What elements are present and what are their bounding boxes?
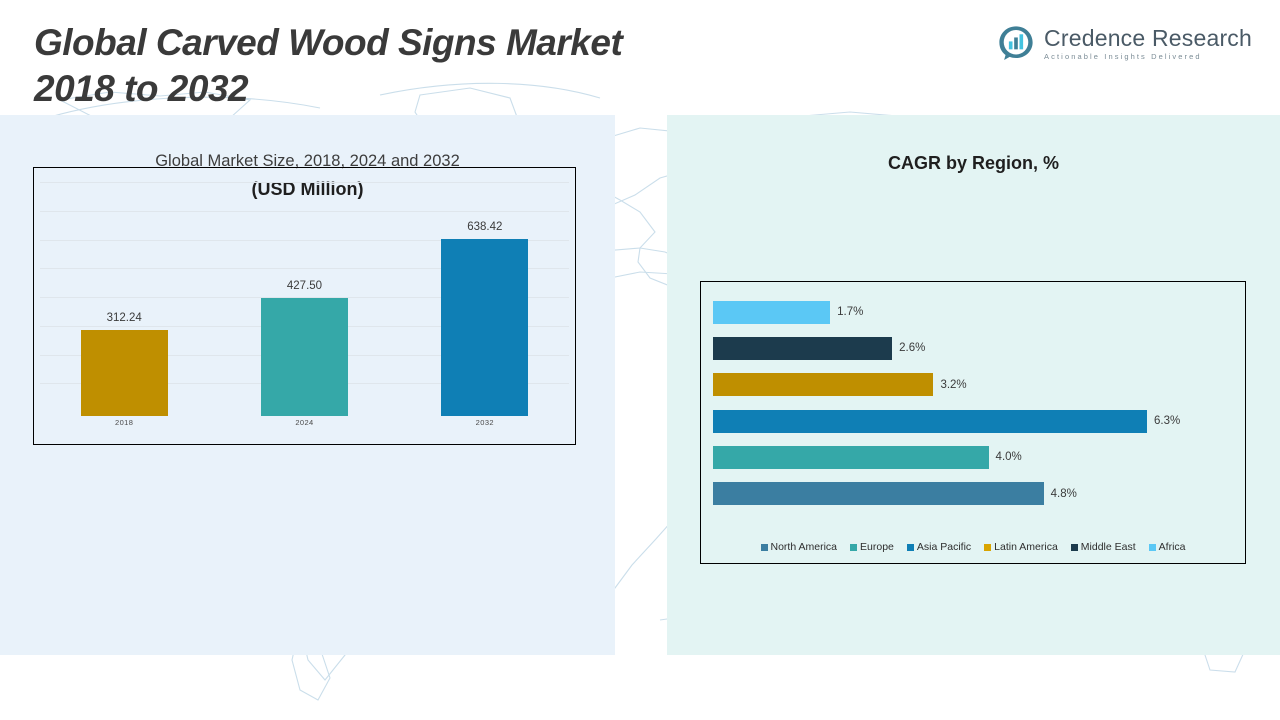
hbar-value-label: 3.2%	[940, 379, 966, 391]
legend-swatch	[761, 544, 768, 551]
page-title: Global Carved Wood Signs Market 2018 to …	[34, 20, 794, 112]
hbar-row[interactable]: 1.7%	[713, 294, 1233, 330]
hbar[interactable]	[713, 446, 989, 469]
bar[interactable]	[441, 239, 528, 416]
hbar[interactable]	[713, 373, 933, 396]
legend-swatch	[1149, 544, 1156, 551]
hbar-value-label: 6.3%	[1154, 415, 1180, 427]
bar[interactable]	[261, 298, 348, 416]
hbar-value-label: 2.6%	[899, 342, 925, 354]
hbar-row[interactable]: 6.3%	[713, 403, 1233, 439]
hbar-value-label: 1.7%	[837, 306, 863, 318]
gridline	[40, 182, 569, 183]
hbar[interactable]	[713, 410, 1147, 433]
header: Global Carved Wood Signs Market 2018 to …	[0, 0, 1280, 115]
right-chart-title: CAGR by Region, %	[667, 153, 1280, 174]
legend-item[interactable]: Africa	[1149, 541, 1186, 553]
bar-value-label: 427.50	[244, 280, 364, 292]
logo-name: Credence Research	[1044, 26, 1252, 50]
hbar-row[interactable]: 4.8%	[713, 475, 1233, 511]
x-axis-tick-label: 2024	[214, 418, 394, 438]
bar-series: 312.24427.50638.42	[34, 200, 575, 416]
legend-swatch	[850, 544, 857, 551]
legend-item[interactable]: Europe	[850, 541, 894, 553]
bar-column[interactable]: 427.50	[214, 200, 394, 416]
hbar-row[interactable]: 3.2%	[713, 367, 1233, 403]
legend-item[interactable]: North America	[761, 541, 838, 553]
x-axis-tick-label: 2018	[34, 418, 214, 438]
legend-swatch	[907, 544, 914, 551]
legend-label: Latin America	[994, 541, 1058, 553]
logo-tagline: Actionable Insights Delivered	[1044, 52, 1252, 61]
hbar-value-label: 4.8%	[1051, 488, 1077, 500]
hbar[interactable]	[713, 482, 1044, 505]
legend-item[interactable]: Latin America	[984, 541, 1058, 553]
hbar[interactable]	[713, 301, 830, 324]
x-axis-labels: 201820242032	[34, 418, 575, 438]
bar-chart-bubble-logo-icon	[997, 24, 1035, 62]
hbar[interactable]	[713, 337, 892, 360]
legend-item[interactable]: Asia Pacific	[907, 541, 971, 553]
x-axis-tick-label: 2032	[395, 418, 575, 438]
logo-text: Credence Research Actionable Insights De…	[1044, 26, 1252, 61]
legend-item[interactable]: Middle East	[1071, 541, 1136, 553]
legend-label: Middle East	[1081, 541, 1136, 553]
bar-column[interactable]: 638.42	[395, 200, 575, 416]
bar[interactable]	[81, 330, 168, 416]
legend-label: Europe	[860, 541, 894, 553]
legend-swatch	[984, 544, 991, 551]
brand-logo[interactable]: Credence Research Actionable Insights De…	[997, 24, 1252, 62]
hbar-series: 1.7%2.6%3.2%6.3%4.0%4.8%	[713, 294, 1233, 512]
cagr-by-region-bar-chart: 1.7%2.6%3.2%6.3%4.0%4.8% North AmericaEu…	[700, 281, 1246, 564]
bar-value-label: 312.24	[64, 312, 184, 324]
bar-column[interactable]: 312.24	[34, 200, 214, 416]
legend-swatch	[1071, 544, 1078, 551]
bar-value-label: 638.42	[425, 221, 545, 233]
legend-label: Asia Pacific	[917, 541, 971, 553]
legend-label: North America	[771, 541, 838, 553]
infographic-root: Global Carved Wood Signs Market 2018 to …	[0, 0, 1280, 720]
hbar-row[interactable]: 2.6%	[713, 330, 1233, 366]
hbar-value-label: 4.0%	[996, 451, 1022, 463]
legend-label: Africa	[1159, 541, 1186, 553]
hbar-row[interactable]: 4.0%	[713, 439, 1233, 475]
market-size-bar-chart: 312.24427.50638.42 201820242032	[33, 167, 576, 445]
chart-legend: North AmericaEuropeAsia PacificLatin Ame…	[701, 541, 1245, 553]
